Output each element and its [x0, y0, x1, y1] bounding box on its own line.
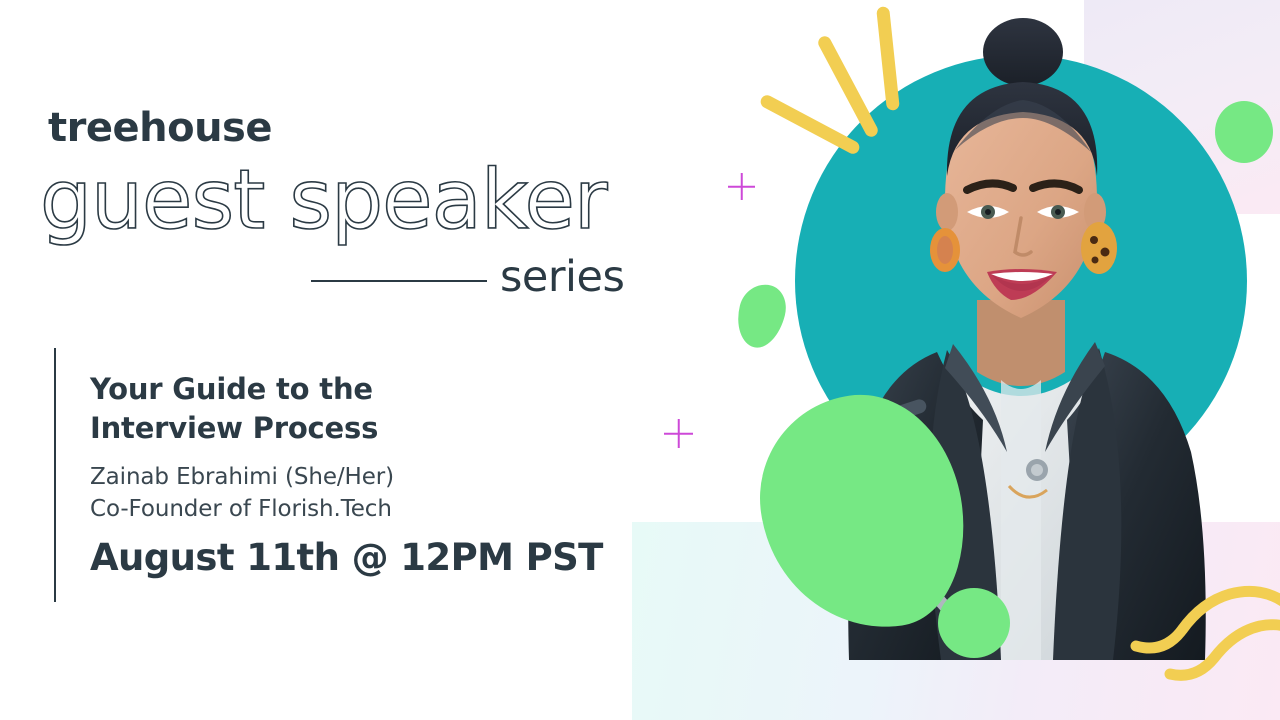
magenta-plus-icon — [728, 173, 755, 200]
green-circle-bottom — [938, 588, 1010, 658]
brand-wordmark: treehouse — [48, 108, 272, 148]
speaker-role: Co-Founder of Florish.Tech — [90, 493, 394, 525]
speaker-info: Zainab Ebrahimi (She/Her) Co-Founder of … — [90, 461, 394, 526]
headline-outline-text: guest speaker — [40, 160, 607, 242]
talk-title-line-2: Interview Process — [90, 409, 378, 448]
left-vertical-rule — [54, 348, 56, 602]
talk-title-line-1: Your Guide to the — [90, 370, 378, 409]
green-blob-small — [731, 279, 791, 352]
talk-title: Your Guide to the Interview Process — [90, 370, 378, 448]
series-divider-rule — [311, 280, 487, 282]
event-datetime: August 11th @ 12PM PST — [90, 539, 603, 576]
green-circle-top-right — [1215, 101, 1273, 163]
series-label: series — [500, 256, 624, 299]
speaker-name: Zainab Ebrahimi (She/Her) — [90, 461, 394, 493]
slide-canvas: treehouse guest speaker series Your Guid… — [0, 0, 1280, 720]
magenta-plus-icon — [664, 419, 693, 448]
